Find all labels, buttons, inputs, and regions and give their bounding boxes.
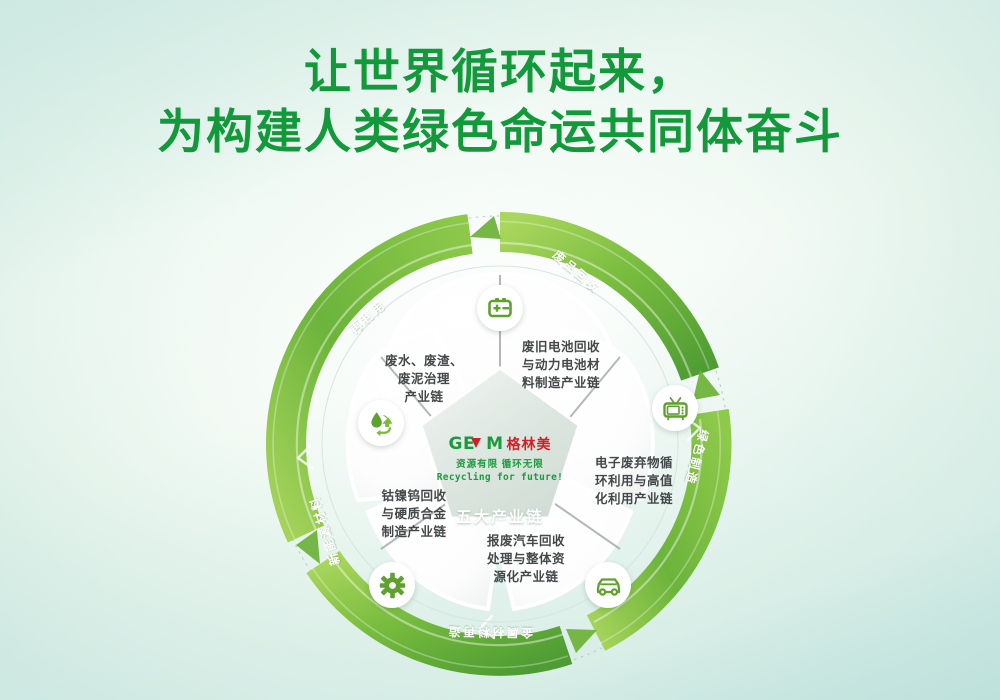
segment-label-waste-treatment: 废水、废渣、 废泥治理 产业链 [370,352,478,406]
battery-icon [487,295,513,321]
segment-label-vehicles: 报废汽车回收 处理与整体资 源化产业链 [473,532,579,586]
tv-icon [662,395,689,422]
segment-label-battery: 废旧电池回收 与动力电池材 料制造产业链 [506,338,616,392]
cycle-diagram: 废品回收 绿色制造 金属材料再造 新能源材料 再利用 [248,212,752,682]
recycle-drop-icon-badge[interactable] [358,400,404,446]
center-title: 五大产业链 [425,505,575,527]
gear-icon [379,572,406,599]
gear-icon-badge[interactable] [369,562,415,608]
car-icon-badge[interactable] [585,562,631,608]
page-title: 让世界循环起来， 为构建人类绿色命运共同体奋斗 [0,42,1000,162]
brand-name-cn: 格林美 [507,434,552,454]
ring-label-metal-remanufacturing: 金属材料再造 [446,623,533,642]
battery-icon-badge[interactable] [477,285,523,331]
segment-label-electronics: 电子废弃物循 环利用与高值 化利用产业链 [583,454,685,508]
recycle-drop-icon [368,410,395,437]
brand-mark-m: M [486,434,503,454]
headline-line-1: 让世界循环起来， [304,45,696,98]
headline-line-2: 为构建人类绿色命运共同体奋斗 [0,102,1000,162]
brand-slogan-en: Recycling for future! [425,472,575,483]
center-logo-block: GE M 格林美 资源有限 循环无限 Recycling for future!… [425,434,575,527]
tv-icon-badge[interactable] [652,385,698,431]
car-icon [595,572,622,599]
brand-logo: GE M 格林美 [425,434,575,454]
brand-slogan-cn: 资源有限 循环无限 [425,456,575,470]
brand-mark-triangle [471,438,481,448]
